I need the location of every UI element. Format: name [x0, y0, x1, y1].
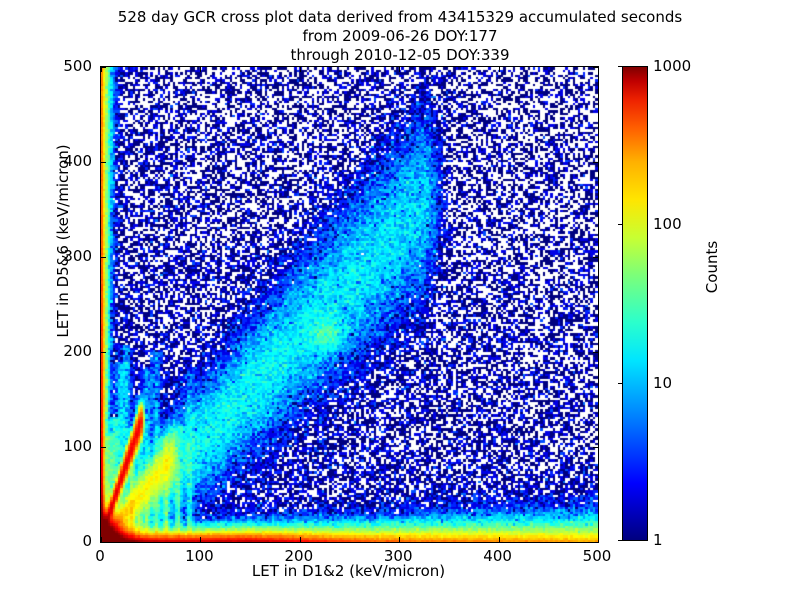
x-tick — [200, 537, 201, 542]
plot-area[interactable] — [100, 66, 599, 543]
figure: 528 day GCR cross plot data derived from… — [0, 0, 800, 600]
colorbar-tick — [618, 224, 622, 225]
y-tick-label: 0 — [42, 532, 92, 550]
x-tick — [399, 537, 400, 542]
x-tick — [499, 67, 500, 72]
x-tick — [598, 537, 599, 542]
y-tick — [593, 542, 598, 543]
y-tick — [101, 352, 106, 353]
y-axis-label: LET in D5&6 (keV/micron) — [54, 71, 72, 411]
x-tick — [399, 67, 400, 72]
x-tick — [200, 67, 201, 72]
y-tick — [101, 67, 106, 68]
y-tick-label: 100 — [42, 437, 92, 455]
x-tick — [598, 67, 599, 72]
colorbar-tick-label: 10 — [653, 374, 672, 392]
title-line-2: from 2009-06-26 DOY:177 — [0, 27, 800, 46]
y-tick — [101, 257, 106, 258]
y-tick — [101, 542, 106, 543]
x-tick — [300, 537, 301, 542]
x-tick — [300, 67, 301, 72]
colorbar-tick — [618, 540, 622, 541]
title-line-1: 528 day GCR cross plot data derived from… — [0, 8, 800, 27]
y-tick — [101, 162, 106, 163]
colorbar-tick — [618, 383, 622, 384]
x-axis-label: LET in D1&2 (keV/micron) — [100, 562, 597, 580]
colorbar-tick — [618, 66, 622, 67]
x-tick — [499, 537, 500, 542]
colorbar-tick-label: 1 — [653, 531, 663, 549]
colorbar-title: Counts — [703, 187, 721, 347]
y-tick — [593, 162, 598, 163]
colorbar[interactable]: 1101001000 — [622, 66, 648, 541]
y-tick — [593, 352, 598, 353]
colorbar-tick-label: 1000 — [653, 57, 691, 75]
y-tick — [593, 447, 598, 448]
y-tick — [593, 257, 598, 258]
y-tick — [101, 447, 106, 448]
heatmap-canvas — [101, 67, 598, 542]
colorbar-gradient — [622, 66, 648, 541]
colorbar-tick-label: 100 — [653, 215, 682, 233]
y-tick — [593, 67, 598, 68]
